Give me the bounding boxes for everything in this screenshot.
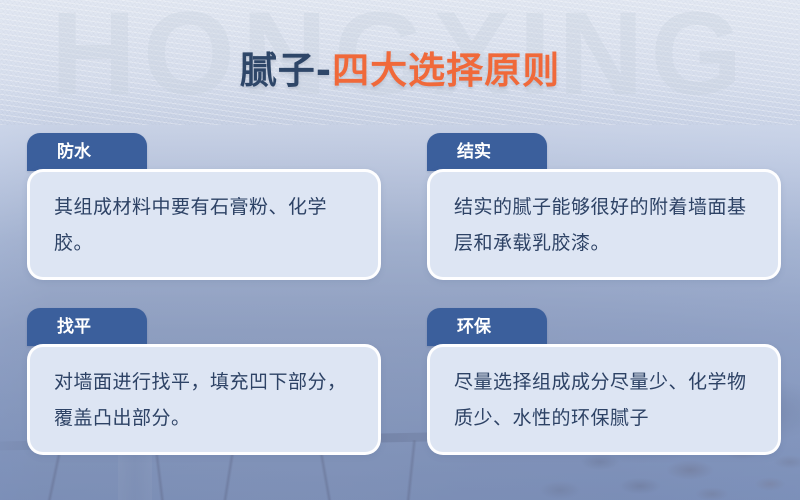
- poster-canvas: HONGXING 腻子-四大选择原则 防水 其组成材料中要有石膏粉、化学胶。 结…: [0, 0, 800, 500]
- card-body-text: 尽量选择组成成分尽量少、化学物质少、水性的环保腻子: [454, 364, 758, 436]
- card-tab-label[interactable]: 找平: [27, 308, 147, 346]
- card-tab-label[interactable]: 环保: [427, 308, 547, 346]
- page-title-prefix: 腻子-: [240, 49, 332, 92]
- page-title-highlight: 四大选择原则: [332, 49, 560, 92]
- card-waterproof[interactable]: 防水 其组成材料中要有石膏粉、化学胶。: [27, 133, 381, 280]
- card-leveling[interactable]: 找平 对墙面进行找平，填充凹下部分，覆盖凸出部分。: [27, 308, 381, 455]
- card-body: 对墙面进行找平，填充凹下部分，覆盖凸出部分。: [27, 344, 381, 455]
- card-body-text: 对墙面进行找平，填充凹下部分，覆盖凸出部分。: [54, 364, 358, 436]
- card-body-text: 其组成材料中要有石膏粉、化学胶。: [54, 189, 358, 261]
- card-solid[interactable]: 结实 结实的腻子能够很好的附着墙面基层和承载乳胶漆。: [427, 133, 781, 280]
- page-title: 腻子-四大选择原则: [0, 40, 800, 94]
- card-body: 尽量选择组成成分尽量少、化学物质少、水性的环保腻子: [427, 344, 781, 455]
- card-body: 结实的腻子能够很好的附着墙面基层和承载乳胶漆。: [427, 169, 781, 280]
- card-body-text: 结实的腻子能够很好的附着墙面基层和承载乳胶漆。: [454, 189, 758, 261]
- card-body: 其组成材料中要有石膏粉、化学胶。: [27, 169, 381, 280]
- card-tab-label[interactable]: 防水: [27, 133, 147, 171]
- card-eco[interactable]: 环保 尽量选择组成成分尽量少、化学物质少、水性的环保腻子: [427, 308, 781, 455]
- card-tab-label[interactable]: 结实: [427, 133, 547, 171]
